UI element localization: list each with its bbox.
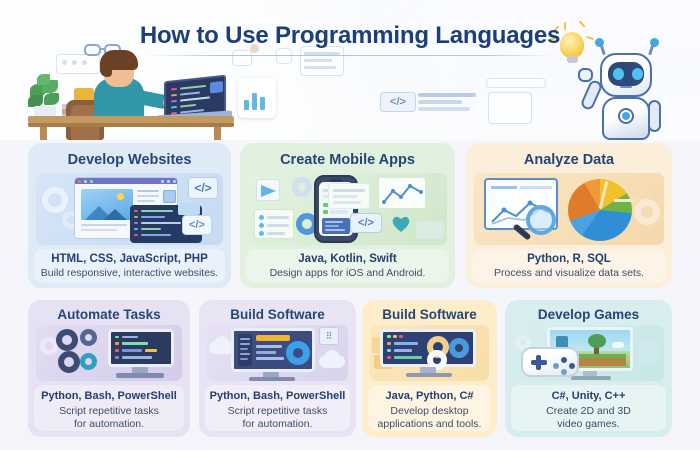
cloud-icon <box>325 350 339 362</box>
card-footer-build-software-scripting: Python, Bash, PowerShell Script repetiti… <box>205 385 350 431</box>
decor-line <box>304 66 336 69</box>
card-illustration-build-software-desktop <box>370 325 489 381</box>
card-illustration-build-software-scripting: ⠿ <box>207 325 348 381</box>
robot-eye <box>632 68 643 80</box>
decor-chip <box>639 341 659 363</box>
gear-icon <box>80 353 97 370</box>
pie-slice-gap <box>614 199 636 202</box>
decor-dot <box>62 60 67 65</box>
title-underline <box>148 55 554 56</box>
infographic-poster: How to Use Programming Languages <box>0 0 700 450</box>
decor-panel <box>486 78 546 88</box>
card-description-line2: applications and tools. <box>368 418 491 431</box>
decor-line <box>304 59 332 62</box>
page-title: How to Use Programming Languages <box>0 22 700 50</box>
card-description-line1: Develop desktop <box>368 405 491 418</box>
robot-mouth <box>620 86 632 88</box>
gear-icon <box>42 187 68 213</box>
gear-icon <box>286 341 310 365</box>
decor-dot <box>72 60 77 65</box>
card-illustration-analyze-data <box>474 173 664 245</box>
gear-icon <box>80 329 97 346</box>
monitor-base <box>571 376 611 380</box>
card-illustration-develop-websites: </> </> <box>36 173 223 245</box>
gear-icon <box>449 338 469 358</box>
robot-chest-light <box>622 112 630 120</box>
card-languages: Java, Kotlin, Swift <box>246 253 449 265</box>
gear-icon <box>292 177 312 197</box>
app-tile-icon: ⠿ <box>319 327 339 345</box>
gear-icon <box>634 199 660 225</box>
robot-eye <box>613 68 624 80</box>
message-panel-icon <box>328 183 370 209</box>
card-footer-develop-games: C#, Unity, C++ Create 2D and 3D video ga… <box>511 385 666 431</box>
monitor-base <box>249 377 295 381</box>
card-description-line1: Script repetitive tasks <box>205 405 350 418</box>
code-tag-icon: </> <box>380 92 416 112</box>
card-description-line2: video games. <box>511 418 666 431</box>
decor-dot <box>82 60 87 65</box>
decor-panel <box>276 48 292 64</box>
decor-panel <box>232 50 252 66</box>
robot-hand <box>578 68 593 82</box>
card-languages: C#, Unity, C++ <box>511 390 666 402</box>
card-automate-tasks[interactable]: Automate Tasks Python, Bash, PowerS <box>28 300 190 437</box>
card-languages: Java, Python, C# <box>368 390 491 402</box>
code-tag-icon: </> <box>182 215 212 235</box>
developer-hair-side <box>100 58 112 77</box>
game-controller-icon <box>521 347 579 377</box>
monitor-base <box>116 373 164 378</box>
gear-icon <box>58 351 80 373</box>
widescreen-monitor-icon <box>380 329 476 367</box>
card-languages: HTML, CSS, JavaScript, PHP <box>34 253 225 265</box>
desk-leg <box>214 127 221 140</box>
header-banner: How to Use Programming Languages <box>0 0 700 140</box>
bar-chart-icon <box>238 78 276 118</box>
monitor-base <box>406 373 452 377</box>
cloud-icon <box>215 336 229 348</box>
code-tag-icon: </> <box>188 177 218 199</box>
card-title: Develop Websites <box>28 152 231 168</box>
card-develop-websites[interactable]: Develop Websites <box>28 143 231 288</box>
plant-leaf <box>37 74 50 85</box>
card-description: Design apps for iOS and Android. <box>246 267 449 280</box>
card-description-line1: Create 2D and 3D <box>511 405 666 418</box>
gear-icon <box>56 329 78 351</box>
magnifier-icon <box>526 205 556 235</box>
decor-chip <box>178 203 200 215</box>
desktop-monitor-icon <box>108 329 174 367</box>
decor-panel <box>488 92 532 124</box>
card-description: Build responsive, interactive websites. <box>34 267 225 280</box>
card-illustration-automate-tasks <box>36 325 182 381</box>
card-description-line2: for automation. <box>205 418 350 431</box>
card-footer-develop-websites: HTML, CSS, JavaScript, PHP Build respons… <box>34 249 225 283</box>
desktop-monitor-icon <box>231 328 315 372</box>
card-languages: Python, R, SQL <box>472 253 666 265</box>
robot-arm-right <box>648 100 661 132</box>
decor-lines-group <box>418 93 476 111</box>
desk-surface <box>28 116 234 123</box>
desk-edge <box>28 123 234 127</box>
card-title: Build Software <box>362 307 497 322</box>
card-footer-analyze-data: Python, R, SQL Process and visualize dat… <box>472 249 666 283</box>
plant-leaf <box>44 93 59 105</box>
gear-icon <box>38 219 52 233</box>
card-build-software-scripting[interactable]: Build Software ⠿ <box>199 300 356 437</box>
lightbulb-base <box>567 56 578 63</box>
decor-chip <box>416 221 444 239</box>
desk-leg <box>40 127 47 140</box>
card-illustration-create-mobile-apps: </> <box>248 173 447 245</box>
heart-icon <box>390 213 412 233</box>
card-analyze-data[interactable]: Analyze Data Python, R, SQL Process and … <box>466 143 672 288</box>
card-illustration-develop-games <box>513 325 664 381</box>
card-description: Process and visualize data sets. <box>472 267 666 280</box>
card-description-line2: for automation. <box>34 418 184 431</box>
card-description-line1: Script repetitive tasks <box>34 405 184 418</box>
code-tag-icon: </> <box>350 213 382 233</box>
card-languages: Python, Bash, PowerShell <box>34 390 184 402</box>
card-footer-automate-tasks: Python, Bash, PowerShell Script repetiti… <box>34 385 184 431</box>
line-chart-icon <box>378 177 426 209</box>
card-languages: Python, Bash, PowerShell <box>205 390 350 402</box>
card-footer-build-software-desktop: Java, Python, C# Develop desktop applica… <box>368 385 491 431</box>
card-title: Automate Tasks <box>28 307 190 322</box>
card-footer-create-mobile-apps: Java, Kotlin, Swift Design apps for iOS … <box>246 249 449 283</box>
card-title: Develop Games <box>505 307 672 322</box>
list-panel-icon <box>254 209 294 239</box>
card-build-software-desktop[interactable]: Build Software Java, Python, <box>362 300 497 437</box>
card-title: Build Software <box>199 307 356 322</box>
card-create-mobile-apps[interactable]: Create Mobile Apps <box>240 143 455 288</box>
card-title: Create Mobile Apps <box>240 152 455 168</box>
pie-chart-icon <box>568 179 632 241</box>
card-title: Analyze Data <box>466 152 672 168</box>
card-develop-games[interactable]: Develop Games <box>505 300 672 437</box>
send-icon-card <box>256 179 280 201</box>
